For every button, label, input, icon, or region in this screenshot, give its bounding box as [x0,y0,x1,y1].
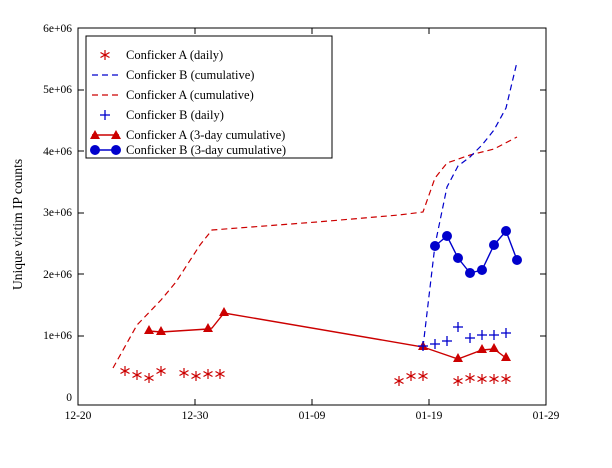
x-tick-label: 12-30 [182,410,209,422]
series-conficker-a-3day-line [149,313,506,359]
series-conficker-a-daily-markers [121,366,511,386]
series-conficker-a-3day-markers [144,307,511,362]
y-tick-labels: 6e+06 5e+06 4e+06 3e+06 2e+06 1e+06 0 [43,23,72,404]
legend-label: Conficker A (cumulative) [126,88,254,102]
x-tick-label: 01-29 [533,410,560,422]
x-tick-label: 01-19 [416,410,443,422]
chart-svg: Unique victim IP counts 6e+06 5e+06 4e+0… [0,0,612,468]
series-conficker-b-daily-markers [418,322,511,351]
legend-label: Conficker A (3-day cumulative) [126,128,285,142]
legend-label: Conficker B (daily) [126,108,224,122]
x-tick-label: 01-09 [299,410,326,422]
series-conficker-a-cumulative [113,137,517,368]
legend-label: Conficker A (daily) [126,48,223,62]
y-tick-label: 2e+06 [43,269,72,281]
legend-label: Conficker B (3-day cumulative) [126,143,286,157]
y-tick-label: 1e+06 [43,330,72,342]
y-tick-label: 6e+06 [43,23,72,35]
x-tick-label: 12-20 [65,410,92,422]
circle-icon [90,145,100,155]
y-tick-label: 4e+06 [43,146,72,158]
y-tick-label: 5e+06 [43,84,72,96]
series-conficker-b-3day-markers [430,226,522,278]
y-axis-title: Unique victim IP counts [10,159,25,290]
y-tick-label: 3e+06 [43,207,72,219]
x-tick-labels: 12-20 12-30 01-09 01-19 01-29 [65,410,560,422]
y-tick-label: 0 [66,392,72,404]
legend-label: Conficker B (cumulative) [126,68,254,82]
circle-icon [111,145,121,155]
chart-root: Unique victim IP counts 6e+06 5e+06 4e+0… [0,0,612,468]
legend: Conficker A (daily) Conficker B (cumulat… [86,36,332,158]
series-conficker-b-cumulative [423,62,517,347]
